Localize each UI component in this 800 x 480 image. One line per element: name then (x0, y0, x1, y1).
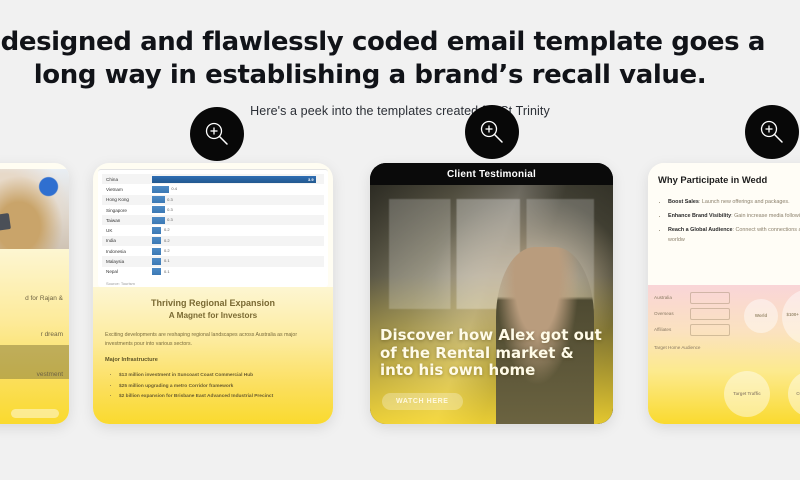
chart-value-label: 0.4 (161, 187, 169, 192)
chart-value-label-outside: 0.3 (167, 207, 173, 212)
chart-category-label: Singapore (102, 208, 152, 213)
chart-bar: 0.2 (152, 237, 161, 244)
chart-value-label: 0.3 (157, 197, 165, 202)
chart-category-label: Malaysia (102, 259, 152, 264)
chart-bar: 0.1 (152, 268, 161, 275)
chart-bar: 0.2 (152, 227, 161, 234)
zoom-in-icon-card4[interactable] (745, 105, 799, 159)
chart-row: Vietnam0.40.4 (102, 184, 324, 194)
card2-body: Thriving Regional Expansion A Magnet for… (93, 287, 333, 424)
chart-value-label: 0.3 (157, 207, 165, 212)
chart-track: 0.30.3 (152, 215, 324, 225)
card1-cta-button[interactable] (11, 409, 59, 418)
diagram-tag-box (690, 324, 730, 336)
page-root: ll designed and flawlessly coded email t… (0, 0, 800, 480)
template-card-3[interactable]: Client Testimonial Discover how Alex got… (370, 163, 613, 424)
chart-track: 0.30.3 (152, 205, 324, 215)
chart-category-label: India (102, 238, 152, 243)
diagram-bubble: $100+ BUDBUD WEEK DRIVE (782, 289, 800, 345)
chart-row: Taiwan0.30.3 (102, 215, 324, 225)
chart-value-label-outside: 0.2 (164, 238, 170, 243)
chart-row: Singapore0.30.3 (102, 205, 324, 215)
card2-title-sub: A Magnet for Investors (93, 310, 333, 322)
template-card-2[interactable]: Thriving Regional Expansion A Magnet for… (93, 163, 333, 424)
card4-header-area: Why Participate in Wedd Boost Sales: Lau… (648, 163, 800, 285)
card1-text-line-2: r dream (41, 331, 63, 338)
page-headline: ll designed and flawlessly coded email t… (0, 26, 800, 93)
chart-value-label-outside: 0.1 (164, 258, 170, 263)
chart-bar: 0.3 (152, 206, 165, 213)
chart-category-label: Nepal (102, 269, 152, 274)
template-card-1[interactable]: d for Rajan & r dream vestment (0, 163, 69, 424)
chart-bar: 0.3 (152, 196, 165, 203)
chart-bar: 0.1 (152, 258, 161, 265)
chart-value-label-outside: 0.4 (171, 186, 177, 191)
card3-label: Client Testimonial (447, 169, 536, 180)
card4-bullet-item: Reach a Global Audience: Connect with co… (668, 225, 800, 245)
chart-track: 0.40.4 (152, 184, 324, 194)
template-card-4[interactable]: Why Participate in Wedd Boost Sales: Lau… (648, 163, 800, 424)
chart-value-label-outside: 0.3 (167, 217, 173, 222)
chart-value-label: 0.2 (154, 238, 162, 243)
card1-hero-photo (0, 169, 69, 249)
page-subheadline: Here's a peek into the templates created… (0, 104, 800, 118)
tablet-shape (0, 213, 11, 233)
card2-bullet-list: $13 million investment in Suncoast Coast… (119, 371, 323, 403)
chart-value-label: 3.9 (308, 177, 316, 182)
chart-category-label: Indonesia (102, 249, 152, 254)
card4-bullet-item: Enhance Brand Visibility: Gain increase … (668, 211, 800, 221)
diagram-bubble: Target Traffic (724, 371, 770, 417)
chart-bar: 0.2 (152, 248, 161, 255)
zoom-in-icon-card3[interactable] (465, 105, 519, 159)
chart-value-label: 0.2 (154, 228, 162, 233)
chart-value-label-outside: 0.2 (164, 248, 170, 253)
chart-row: Nepal0.10.1 (102, 267, 324, 277)
chart-track: 0.10.1 (152, 256, 324, 266)
card1-text-line-3: vestment (37, 371, 63, 378)
chart-value-label-outside: 0.2 (164, 227, 170, 232)
chart-track: 0.10.1 (152, 267, 324, 277)
card2-title-main: Thriving Regional Expansion (151, 298, 275, 308)
card3-label-bar: Client Testimonial (370, 163, 613, 185)
magnifier-glyph (203, 120, 231, 148)
card2-paragraph: Exciting developments are reshaping regi… (105, 331, 321, 349)
card2-bullet-item: $2 billion expansion for Brisbane East A… (119, 392, 323, 403)
chart-row: China3.9 (102, 174, 324, 184)
chart-category-label: China (102, 177, 152, 182)
chart-row: Malaysia0.10.1 (102, 256, 324, 266)
diagram-bubble: World (744, 299, 778, 333)
card3-watch-here-button[interactable]: WATCH HERE (382, 393, 463, 410)
card4-bullet-list: Boost Sales: Launch new offerings and pa… (668, 197, 800, 249)
diagram-bubble: CONVERSION (788, 371, 800, 417)
diagram-tag: Target Home Audience (654, 345, 700, 350)
chart-value-label: 0.1 (154, 259, 162, 264)
card2-bar-chart: China3.9Vietnam0.40.4Hong Kong0.30.3Sing… (98, 169, 328, 287)
chart-bar: 0.3 (152, 217, 165, 224)
card1-body: d for Rajan & r dream vestment (0, 249, 69, 424)
card3-headline: Discover how Alex got out of the Rental … (380, 327, 605, 380)
diagram-tag: Overseas (654, 311, 674, 316)
chart-category-label: Vietnam (102, 187, 152, 192)
chart-track: 3.9 (152, 174, 324, 184)
card4-diagram: AustraliaOverseasAffiliatesTarget Home A… (648, 285, 800, 424)
chart-value-label-outside: 0.1 (164, 269, 170, 274)
chart-value-label: 0.2 (154, 249, 162, 254)
chart-row: India0.20.2 (102, 236, 324, 246)
diagram-tag: Affiliates (654, 327, 671, 332)
card4-bullet-item: Boost Sales: Launch new offerings and pa… (668, 197, 800, 207)
card4-title: Why Participate in Wedd (658, 174, 800, 185)
diagram-tag-box (690, 308, 730, 320)
chart-value-label: 0.3 (157, 218, 165, 223)
chart-bar: 3.9 (152, 176, 316, 183)
card2-bullet-item: $25 million upgrading a metro Corridor f… (119, 382, 323, 393)
chart-track: 0.20.2 (152, 225, 324, 235)
chart-category-label: UK (102, 228, 152, 233)
chart-value-label-outside: 0.3 (167, 197, 173, 202)
chart-row: Indonesia0.20.2 (102, 246, 324, 256)
card2-section-heading: Major Infrastructure (105, 357, 158, 363)
chart-source-label: Source: Tourism (106, 281, 135, 286)
diagram-tag-box (690, 292, 730, 304)
template-card-rail: d for Rajan & r dream vestment Thriving … (0, 163, 800, 428)
card2-bullet-item: $13 million investment in Suncoast Coast… (119, 371, 323, 382)
chart-row: UK0.20.2 (102, 225, 324, 235)
chart-track: 0.20.2 (152, 246, 324, 256)
chart-category-label: Taiwan (102, 218, 152, 223)
chart-value-label: 0.1 (154, 269, 162, 274)
card4-bullet-bold: Enhance Brand Visibility (668, 213, 731, 219)
chart-track: 0.20.2 (152, 236, 324, 246)
chart-track: 0.30.3 (152, 195, 324, 205)
card4-bullet-bold: Boost Sales (668, 199, 699, 205)
magnifier-glyph (758, 118, 786, 146)
chart-bar: 0.4 (152, 186, 169, 193)
diagram-tag: Australia (654, 295, 672, 300)
card4-bullet-bold: Reach a Global Audience (668, 227, 733, 233)
card3-video-still (370, 185, 613, 424)
card1-text-line-1: d for Rajan & (25, 295, 63, 302)
magnifier-glyph (478, 118, 506, 146)
zoom-in-icon-card2[interactable] (190, 107, 244, 161)
chart-row: Hong Kong0.30.3 (102, 195, 324, 205)
card2-title: Thriving Regional Expansion A Magnet for… (93, 297, 333, 322)
chart-category-label: Hong Kong (102, 197, 152, 202)
